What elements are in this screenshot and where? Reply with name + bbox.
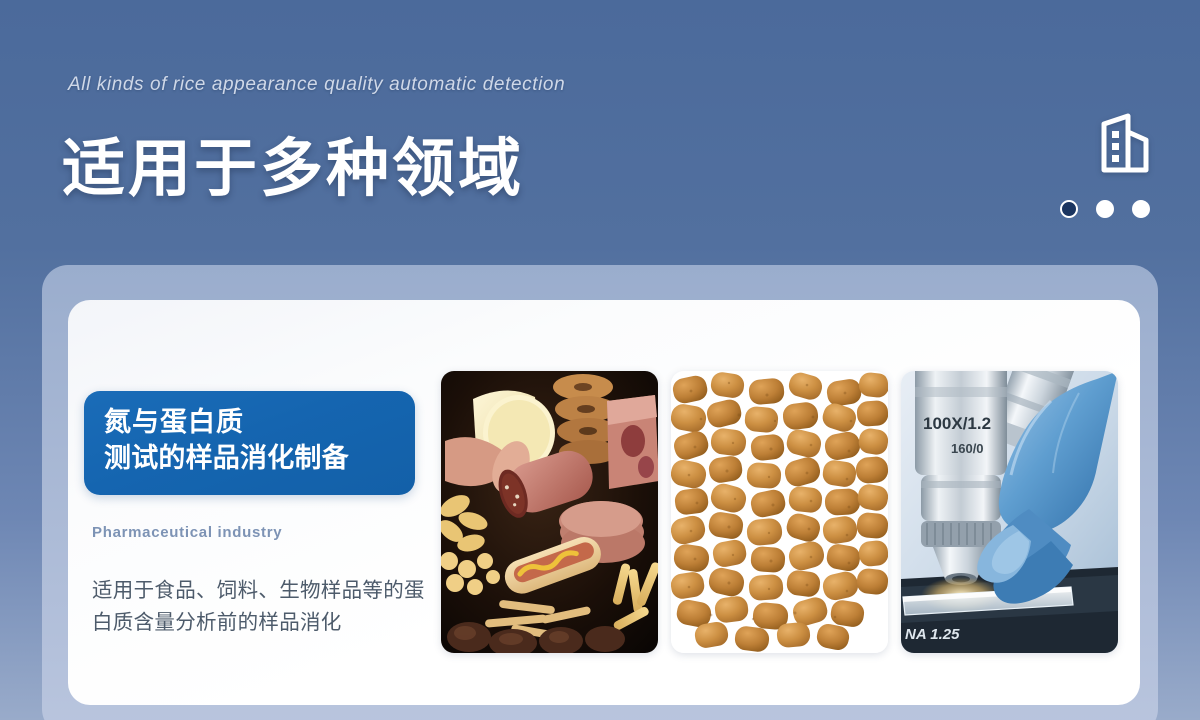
pet-food-kibble-photo[interactable] — [671, 371, 888, 653]
microscope-photo[interactable]: 100X/1.2 160/0 NA 1.25 — [901, 371, 1118, 653]
objective-tube-length-label: 160/0 — [951, 441, 984, 456]
building-icon — [1090, 112, 1158, 174]
description-text: 适用于食品、饲料、生物样品等的蛋白质含量分析前的样品消化 — [92, 575, 442, 639]
header-subtitle: All kinds of rice appearance quality aut… — [68, 74, 565, 96]
objective-magnification-label: 100X/1.2 — [923, 414, 991, 433]
carousel-dots[interactable] — [1060, 200, 1150, 218]
badge-line-2: 测试的样品消化制备 — [104, 441, 415, 477]
processed-food-photo[interactable] — [441, 371, 658, 653]
page-title: 适用于多种领域 — [62, 118, 524, 209]
category-badge[interactable]: 氮与蛋白质 测试的样品消化制备 — [84, 391, 415, 495]
numerical-aperture-label: NA 1.25 — [905, 626, 960, 643]
industry-label: Pharmaceutical industry — [92, 524, 282, 541]
slide-root: All kinds of rice appearance quality aut… — [0, 0, 1200, 720]
carousel-dot-2[interactable] — [1096, 200, 1114, 218]
carousel-dot-3[interactable] — [1132, 200, 1150, 218]
carousel-dot-1[interactable] — [1060, 200, 1078, 218]
badge-line-1: 氮与蛋白质 — [104, 405, 415, 441]
